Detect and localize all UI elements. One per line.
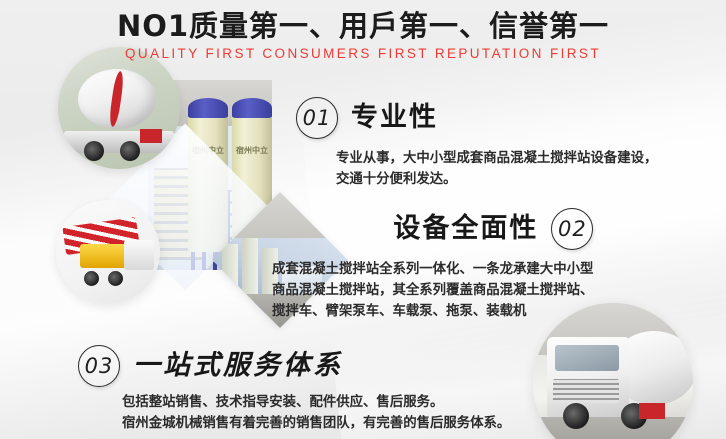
banner-title: NO1质量第一、用戶第一、信誉第一 QUALITY FIRST CONSUMER… [0, 8, 726, 64]
promo-banner: 宿州中立 宿州中立 [0, 0, 726, 439]
feature-03-line-2: 宿州金城机械销售有着完善的销售团队，有完善的售后服务体系。 [122, 413, 510, 434]
title-main-text: NO1质量第一、用戶第一、信誉第一 [0, 8, 726, 44]
truck-ground [533, 417, 693, 439]
feature-01-head: 01 专业性 [296, 97, 657, 139]
feature-01-heading: 专业性 [351, 101, 438, 135]
plant-silo-a [222, 244, 238, 302]
plant-silo-b [242, 238, 258, 302]
feature-02-heading: 设备全面性 [393, 212, 538, 246]
truck-cab-art [547, 337, 629, 417]
silo-cap-right [232, 98, 272, 118]
pump-wheel-front [84, 271, 99, 286]
feature-02-head: 设备全面性 02 [272, 208, 593, 250]
feature-02-body: 成套混凝土搅拌站全系列一体化、一条龙承建大中小型 商品混凝土搅拌站，其全系列覆盖… [272, 259, 593, 322]
feature-02-line-2: 商品混凝土搅拌站，其全系列覆盖商品混凝土搅拌站、 [272, 280, 593, 301]
feature-section-03: 03 一站式服务体系 包括整站销售、技术指导安装、配件供应、售后服务。 宿州金城… [78, 345, 510, 434]
mixer-wheel-rear [120, 141, 140, 161]
feature-03-head: 03 一站式服务体系 [78, 345, 510, 387]
truck-red-accent [639, 403, 665, 419]
mixer-drum-stripe [108, 71, 125, 128]
feature-section-02: 设备全面性 02 成套混凝土搅拌站全系列一体化、一条龙承建大中小型 商品混凝土搅… [272, 208, 593, 322]
pump-wheel-rear [108, 271, 123, 286]
feature-01-line-2: 交通十分便利发达。 [336, 169, 657, 190]
mixer-drum-art [78, 69, 156, 129]
feature-03-line-1: 包括整站销售、技术指导安装、配件供应、售后服务。 [122, 392, 510, 413]
concrete-mixer-truck-photo [58, 47, 180, 169]
feature-02-line-1: 成套混凝土搅拌站全系列一体化、一条龙承建大中小型 [272, 259, 593, 280]
feature-01-line-1: 专业从事，大中小型成套商品混凝土搅拌站设备建设， [336, 148, 657, 169]
feature-02-line-3: 搅拌车、臂架泵车、车载泵、拖泵、装载机 [272, 301, 593, 322]
silo-label-right: 宿州中立 [232, 144, 272, 157]
feature-section-01: 01 专业性 专业从事，大中小型成套商品混凝土搅拌站设备建设， 交通十分便利发达… [296, 97, 657, 190]
truck-wheel-front [563, 403, 589, 429]
feature-03-body: 包括整站销售、技术指导安装、配件供应、售后服务。 宿州金城机械销售有着完善的销售… [122, 392, 510, 434]
truck-grille [553, 379, 619, 403]
feature-01-body: 专业从事，大中小型成套商品混凝土搅拌站设备建设， 交通十分便利发达。 [336, 148, 657, 190]
title-sub-text: QUALITY FIRST CONSUMERS FIRST REPUTATION… [0, 44, 726, 64]
feature-02-number-badge: 02 [551, 208, 593, 250]
white-mixer-truck-photo [533, 303, 693, 439]
mixer-wheel-front [84, 141, 104, 161]
feature-01-number-badge: 01 [296, 97, 338, 139]
pump-cab-white [124, 240, 154, 270]
mixer-red-accent [140, 129, 162, 143]
truck-windshield [555, 345, 619, 371]
boom-pump-truck-photo [56, 200, 160, 304]
silo-cap-left [188, 98, 228, 118]
feature-03-number-badge: 03 [78, 345, 120, 387]
feature-03-heading: 一站式服务体系 [133, 349, 343, 383]
